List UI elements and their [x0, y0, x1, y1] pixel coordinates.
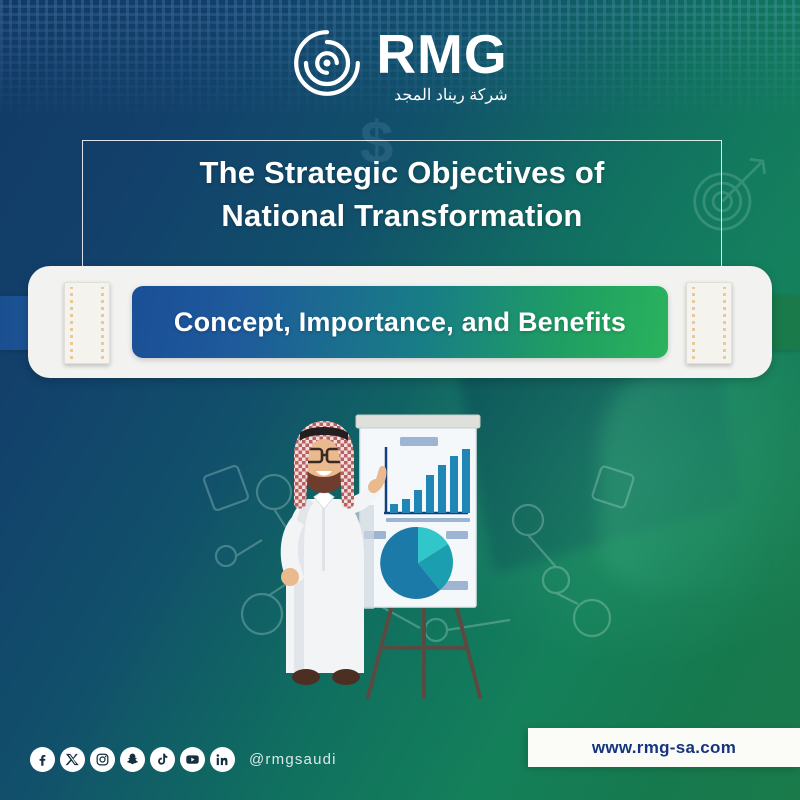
ribbon-filmstrip-cap-right	[686, 282, 732, 364]
social-handle: @rmgsaudi	[249, 751, 337, 768]
tiktok-icon[interactable]	[150, 747, 175, 772]
snapchat-icon[interactable]	[120, 747, 145, 772]
website-badge[interactable]: www.rmg-sa.com	[528, 728, 800, 767]
easel-tripod-icon	[368, 605, 480, 697]
facebook-icon[interactable]	[30, 747, 55, 772]
website-url: www.rmg-sa.com	[592, 738, 736, 758]
background-hand-shape	[600, 360, 800, 590]
rmg-spiral-logo-icon	[292, 28, 362, 98]
flipchart-clamp	[356, 415, 480, 428]
linkedin-icon[interactable]	[210, 747, 235, 772]
subtitle-text: Concept, Importance, and Benefits	[174, 307, 626, 338]
x-twitter-icon[interactable]	[60, 747, 85, 772]
social-links: @rmgsaudi	[30, 747, 337, 772]
character-shoe-left	[292, 669, 320, 685]
logo-wordmark: RMG	[376, 28, 507, 82]
subtitle-banner: Concept, Importance, and Benefits	[132, 286, 668, 358]
presenter-illustration	[260, 405, 560, 705]
ribbon-filmstrip-cap-left	[64, 282, 110, 364]
instagram-icon[interactable]	[90, 747, 115, 772]
title-line-2: National Transformation	[82, 195, 722, 238]
brand-logo: RMG شركة ريناد المجد	[0, 28, 800, 105]
page-title: The Strategic Objectives of National Tra…	[82, 152, 722, 238]
youtube-icon[interactable]	[180, 747, 205, 772]
character-shoe-right	[332, 669, 360, 685]
title-line-1: The Strategic Objectives of	[82, 152, 722, 195]
logo-arabic-name: شركة ريناد المجد	[394, 85, 508, 105]
poster-canvas: $ RMG شركة ريناد المجد The Strategic Obj…	[0, 0, 800, 800]
